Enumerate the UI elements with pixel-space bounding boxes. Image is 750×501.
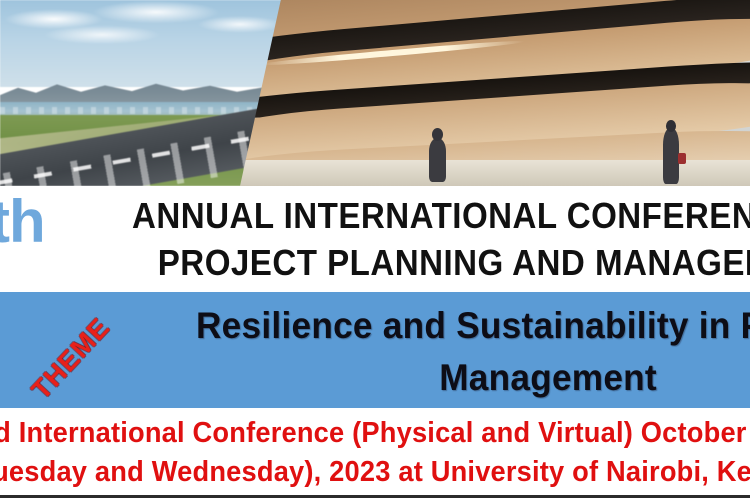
person-silhouette [663, 128, 678, 184]
theme-line-2: Management [196, 352, 750, 404]
conference-heading: ANNUAL INTERNATIONAL CONFERENCE ON PROJE… [132, 192, 750, 286]
heading-line-2: PROJECT PLANNING AND MANAGEMENT [132, 239, 750, 286]
heading-band: th ANNUAL INTERNATIONAL CONFERENCE ON PR… [0, 186, 750, 292]
ordinal-suffix: th [0, 192, 45, 252]
photo-strip [0, 0, 750, 186]
footer-line-1: 3rd International Conference (Physical a… [0, 414, 750, 453]
theme-band: THEME Resilience and Sustainability in P… [0, 292, 750, 408]
person-bag [678, 153, 686, 164]
conference-details: 3rd International Conference (Physical a… [0, 414, 750, 492]
sky-region [0, 0, 300, 87]
person-silhouette-head [666, 120, 676, 132]
theme-text: Resilience and Sustainability in Project… [196, 300, 750, 404]
person-silhouette [429, 138, 446, 183]
theme-tag-label: THEME [26, 297, 131, 406]
bottom-rule [0, 495, 750, 498]
footer-line-2: (Tuesday and Wednesday), 2023 at Univers… [0, 453, 750, 492]
heading-line-1: ANNUAL INTERNATIONAL CONFERENCE ON [132, 192, 750, 239]
modern-building-interior-photo [240, 0, 750, 186]
footer-band: 3rd International Conference (Physical a… [0, 408, 750, 498]
theme-line-1: Resilience and Sustainability in Project [196, 300, 750, 352]
theme-tag: THEME [18, 316, 138, 386]
conference-banner: th ANNUAL INTERNATIONAL CONFERENCE ON PR… [0, 0, 750, 501]
